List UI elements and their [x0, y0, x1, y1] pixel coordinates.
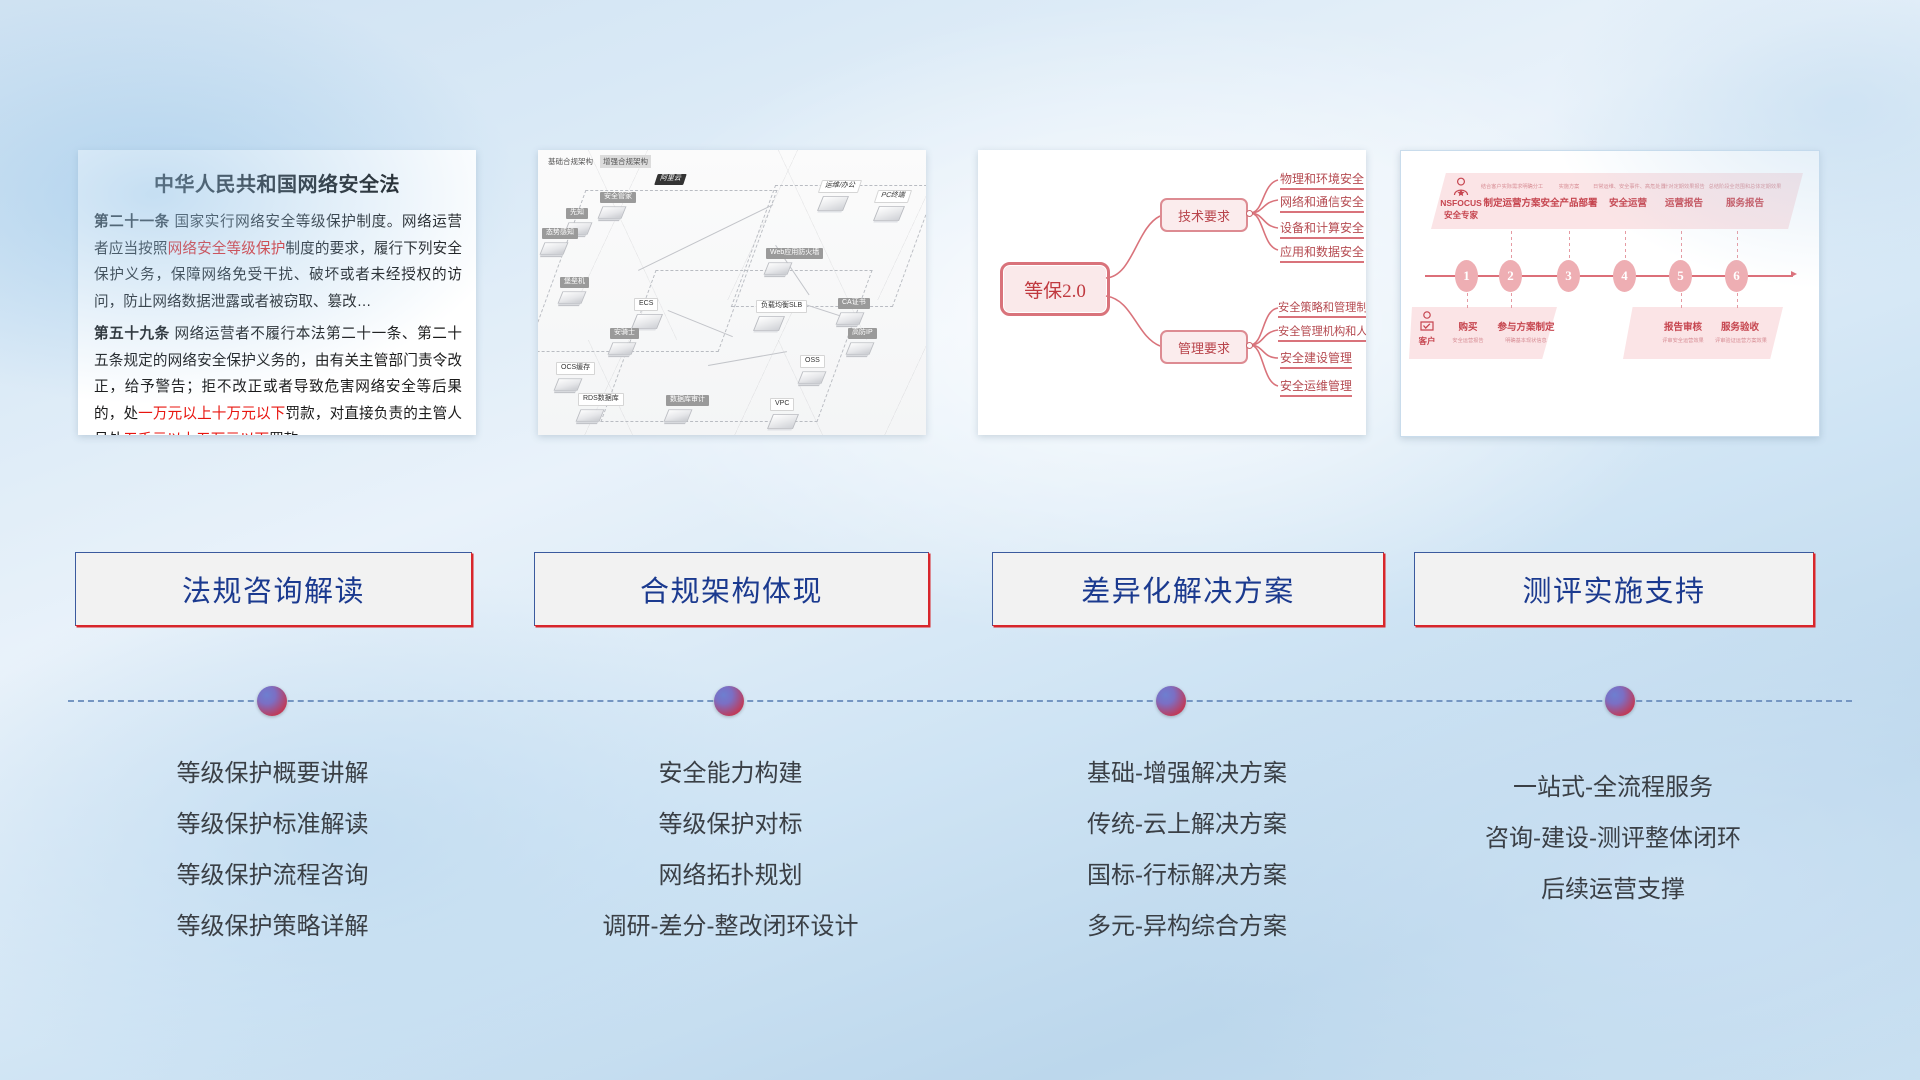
node-situational-awareness: 态势感知: [542, 228, 578, 257]
list-differentiated-solution: 基础-增强解决方案 传统-云上解决方案 国标-行标解决方案 多元-异构综合方案: [992, 748, 1382, 952]
list-item: 等级保护概要讲解: [75, 748, 470, 799]
node-security-butler-label: 安全管家: [600, 192, 636, 203]
list-item: 网络拓扑规划: [534, 850, 927, 901]
list-item: 咨询-建设-测评整体闭环: [1414, 813, 1812, 864]
node-pc-terminal-label: PC终端: [874, 190, 912, 203]
disk-icon: [558, 291, 587, 303]
roadmap-step-6[interactable]: 6: [1725, 260, 1748, 292]
expert-actor-role: 安全专家: [1429, 211, 1493, 221]
node-anti-ddos-ip: 高防IP: [848, 328, 877, 357]
roadmap-top-label-5: 服务报告: [1707, 195, 1783, 209]
list-item: 调研-差分-整改闭环设计: [534, 901, 927, 952]
article-21-highlight: 网络安全等级保护: [168, 241, 286, 257]
node-situational-awareness-label: 态势感知: [542, 228, 578, 239]
node-ca-certificate: CA证书: [838, 298, 870, 327]
disk-icon: [608, 342, 637, 354]
article-59-post: 罚款。: [269, 432, 313, 435]
cube-icon: [817, 196, 849, 211]
roadmap-step-2[interactable]: 2: [1499, 260, 1522, 292]
mindmap-leaf-ops-mgmt: 安全运维管理: [1280, 377, 1352, 397]
law-article-21: 第二十一条 国家实行网络安全等级保护制度。网络运营者应当按照网络安全等级保护制度…: [94, 209, 462, 315]
roadmap-step-5[interactable]: 5: [1669, 260, 1692, 292]
architecture-tabs: 基础合规架构 增强合规架构: [545, 155, 651, 168]
node-database-audit-label: 数据库审计: [666, 395, 709, 406]
timeline-dot-3[interactable]: [1156, 686, 1186, 716]
article-59-highlight-2: 五千元以上五万元以下: [123, 432, 269, 435]
node-ocs-cache-label: OCS缓存: [556, 362, 595, 375]
mindmap-leaf-org-personnel: 安全管理机构和人员: [1278, 323, 1366, 342]
roadmap-stem-6: [1737, 231, 1738, 261]
expert-person-icon: [1451, 177, 1471, 197]
mindmap-leaf-policy-system: 安全策略和管理制度: [1278, 299, 1366, 318]
roadmap-bottom-label-2: 参与方案制定: [1489, 319, 1563, 333]
disk-icon: [598, 206, 627, 218]
mindmap-branch-management: 管理要求: [1160, 330, 1248, 364]
roadmap-stem-2: [1511, 231, 1512, 261]
card-cloud-architecture: 基础合规架构 增强合规架构 阿里云 安全管家 先知: [538, 150, 926, 435]
node-aliyun-label: 阿里云: [654, 174, 686, 185]
roadmap-bottom-label-3: 报告审核: [1655, 319, 1711, 333]
roadmap-step-3[interactable]: 3: [1557, 260, 1580, 292]
list-item: 安全能力构建: [534, 748, 927, 799]
node-ca-certificate-label: CA证书: [838, 298, 870, 309]
mindmap-leaf-physical-env: 物理和环境安全: [1280, 170, 1364, 190]
card-mindmap: 等保2.0 技术要求 物理和环境安全 网络和通信安全 设备: [978, 150, 1366, 435]
roadmap-stem-b2: [1511, 293, 1512, 311]
node-rds-database-label: RDS数据库: [578, 393, 624, 406]
law-body: 第二十一条 国家实行网络安全等级保护制度。网络运营者应当按照网络安全等级保护制度…: [78, 209, 476, 435]
node-vpc: VPC: [770, 398, 796, 431]
cube-icon: [767, 414, 799, 429]
list-item: 基础-增强解决方案: [992, 748, 1382, 799]
tag-label-3: 差异化解决方案: [1081, 568, 1295, 610]
card-roadmap: NSFOCUS 安全专家 客户 1 2 3 4 5 6: [1400, 150, 1820, 437]
node-anti-ddos-ip-label: 高防IP: [848, 328, 877, 339]
list-regulation-consulting: 等级保护概要讲解 等级保护标准解读 等级保护流程咨询 等级保护策略详解: [75, 748, 470, 952]
mindmap-collapse-dot-management[interactable]: [1246, 342, 1253, 349]
node-anqishi: 安骑士: [610, 328, 639, 357]
roadmap-stem-b1: [1467, 293, 1468, 311]
roadmap-step-1[interactable]: 1: [1455, 260, 1478, 292]
disk-icon: [540, 242, 569, 254]
poster-canvas: 中华人民共和国网络安全法 第二十一条 国家实行网络安全等级保护制度。网络运营者应…: [0, 0, 1920, 1080]
node-slb: 负载均衡SLB: [756, 300, 807, 333]
roadmap-arrow-icon: [1791, 271, 1797, 277]
node-bastion-host: 堡垒机: [560, 277, 589, 306]
disk-icon: [576, 409, 605, 421]
tag-box-differentiated-solution[interactable]: 差异化解决方案: [992, 552, 1384, 626]
node-xianzhi-label: 先知: [566, 208, 588, 219]
mindmap-branch-technical: 技术要求: [1160, 198, 1248, 232]
roadmap-stem-3: [1569, 231, 1570, 261]
roadmap-stem-5: [1681, 231, 1682, 261]
node-vpc-label: VPC: [770, 398, 794, 411]
roadmap-step-4[interactable]: 4: [1613, 260, 1636, 292]
node-anqishi-label: 安骑士: [610, 328, 639, 339]
tag-label-4: 测评实施支持: [1522, 568, 1705, 610]
architecture-diagram: 基础合规架构 增强合规架构 阿里云 安全管家 先知: [538, 150, 926, 435]
customer-person-icon: [1417, 311, 1437, 333]
node-bastion-host-label: 堡垒机: [560, 277, 589, 288]
mindmap-leaf-app-data: 应用和数据安全: [1280, 243, 1364, 263]
mindmap-leaf-network-comm: 网络和通信安全: [1280, 193, 1364, 213]
node-database-audit: 数据库审计: [666, 395, 709, 424]
roadmap-stem-b6: [1737, 293, 1738, 311]
node-ecs: ECS: [634, 298, 660, 331]
disk-icon: [798, 371, 827, 383]
law-title: 中华人民共和国网络安全法: [78, 168, 476, 197]
mindmap-leaf-device-compute: 设备和计算安全: [1280, 219, 1364, 239]
node-oss: OSS: [800, 355, 825, 386]
list-item: 后续运营支撑: [1414, 864, 1812, 915]
timeline-dot-4[interactable]: [1605, 686, 1635, 716]
cube-icon: [631, 314, 663, 329]
node-pc-terminal: PC终端: [876, 190, 910, 223]
article-59-label: 第五十九条: [94, 326, 170, 342]
node-ops-office-label: 运维/办公: [818, 180, 862, 193]
node-ops-office: 运维/办公: [820, 180, 860, 213]
list-item: 等级保护流程咨询: [75, 850, 470, 901]
roadmap-stem-b5: [1681, 293, 1682, 311]
list-compliance-architecture: 安全能力构建 等级保护对标 网络拓扑规划 调研-差分-整改闭环设计: [534, 748, 927, 952]
disk-icon: [836, 312, 865, 324]
roadmap-stem-4: [1625, 231, 1626, 261]
roadmap-bottom-sub-4: 评审验证运营方案效果: [1701, 337, 1781, 344]
roadmap-top-sub-5: 总结阶段全范围和总体定期效果: [1707, 183, 1783, 190]
timeline-dot-2[interactable]: [714, 686, 744, 716]
tag-label-1: 法规咨询解读: [182, 568, 365, 610]
cube-icon: [873, 206, 905, 221]
roadmap-band-customer-right: [1623, 307, 1783, 359]
mindmap-diagram: 等保2.0 技术要求 物理和环境安全 网络和通信安全 设备: [978, 150, 1366, 435]
tag-label-2: 合规架构体现: [640, 568, 823, 610]
law-article-59: 第五十九条 网络运营者不履行本法第二十一条、第二十五条规定的网络安全保护义务的，…: [94, 321, 462, 435]
node-ecs-label: ECS: [634, 298, 658, 311]
list-item: 一站式-全流程服务: [1414, 762, 1812, 813]
node-rds-database: RDS数据库: [578, 393, 624, 424]
tag-box-regulation-consulting[interactable]: 法规咨询解读: [75, 552, 472, 626]
list-item: 传统-云上解决方案: [992, 799, 1382, 850]
list-item: 等级保护策略详解: [75, 901, 470, 952]
tab-enhanced-architecture[interactable]: 增强合规架构: [600, 155, 651, 168]
mindmap-leaf-construction-mgmt: 安全建设管理: [1280, 349, 1352, 369]
timeline-line: [68, 700, 1852, 702]
disk-icon: [664, 409, 693, 421]
article-59-highlight-1: 一万元以上十万元以下: [138, 406, 285, 422]
node-waf-label: Web应用防火墙: [766, 248, 823, 259]
customer-actor-name: 客户: [1409, 337, 1445, 347]
node-aliyun: 阿里云: [656, 174, 685, 185]
list-item: 国标-行标解决方案: [992, 850, 1382, 901]
node-waf: Web应用防火墙: [766, 248, 823, 277]
node-slb-label: 负载均衡SLB: [756, 300, 807, 313]
roadmap-bottom-label-1: 购买: [1445, 319, 1491, 333]
article-21-label: 第二十一条: [94, 214, 170, 230]
card-law-text: 中华人民共和国网络安全法 第二十一条 国家实行网络安全等级保护制度。网络运营者应…: [78, 150, 476, 435]
list-evaluation-support: 一站式-全流程服务 咨询-建设-测评整体闭环 后续运营支撑: [1414, 762, 1812, 915]
node-security-butler: 安全管家: [600, 192, 636, 221]
roadmap-bottom-label-4: 服务验收: [1711, 319, 1769, 333]
disk-icon: [554, 378, 583, 390]
disk-icon: [764, 262, 793, 274]
timeline-dot-1[interactable]: [257, 686, 287, 716]
node-ocs-cache: OCS缓存: [556, 362, 595, 393]
list-item: 等级保护标准解读: [75, 799, 470, 850]
tab-basic-architecture[interactable]: 基础合规架构: [545, 155, 596, 168]
node-oss-label: OSS: [800, 355, 825, 368]
roadmap-diagram: NSFOCUS 安全专家 客户 1 2 3 4 5 6: [1401, 151, 1819, 436]
disk-icon: [846, 342, 875, 354]
roadmap-bottom-sub-1: 安全运营报告: [1441, 337, 1495, 344]
tag-box-evaluation-support[interactable]: 测评实施支持: [1414, 552, 1814, 626]
cube-icon: [753, 316, 785, 331]
tag-box-compliance-architecture[interactable]: 合规架构体现: [534, 552, 929, 626]
mindmap-collapse-dot-technical[interactable]: [1246, 210, 1253, 217]
list-item: 多元-异构综合方案: [992, 901, 1382, 952]
list-item: 等级保护对标: [534, 799, 927, 850]
roadmap-bottom-sub-2: 明确基本现状信息: [1489, 337, 1563, 344]
